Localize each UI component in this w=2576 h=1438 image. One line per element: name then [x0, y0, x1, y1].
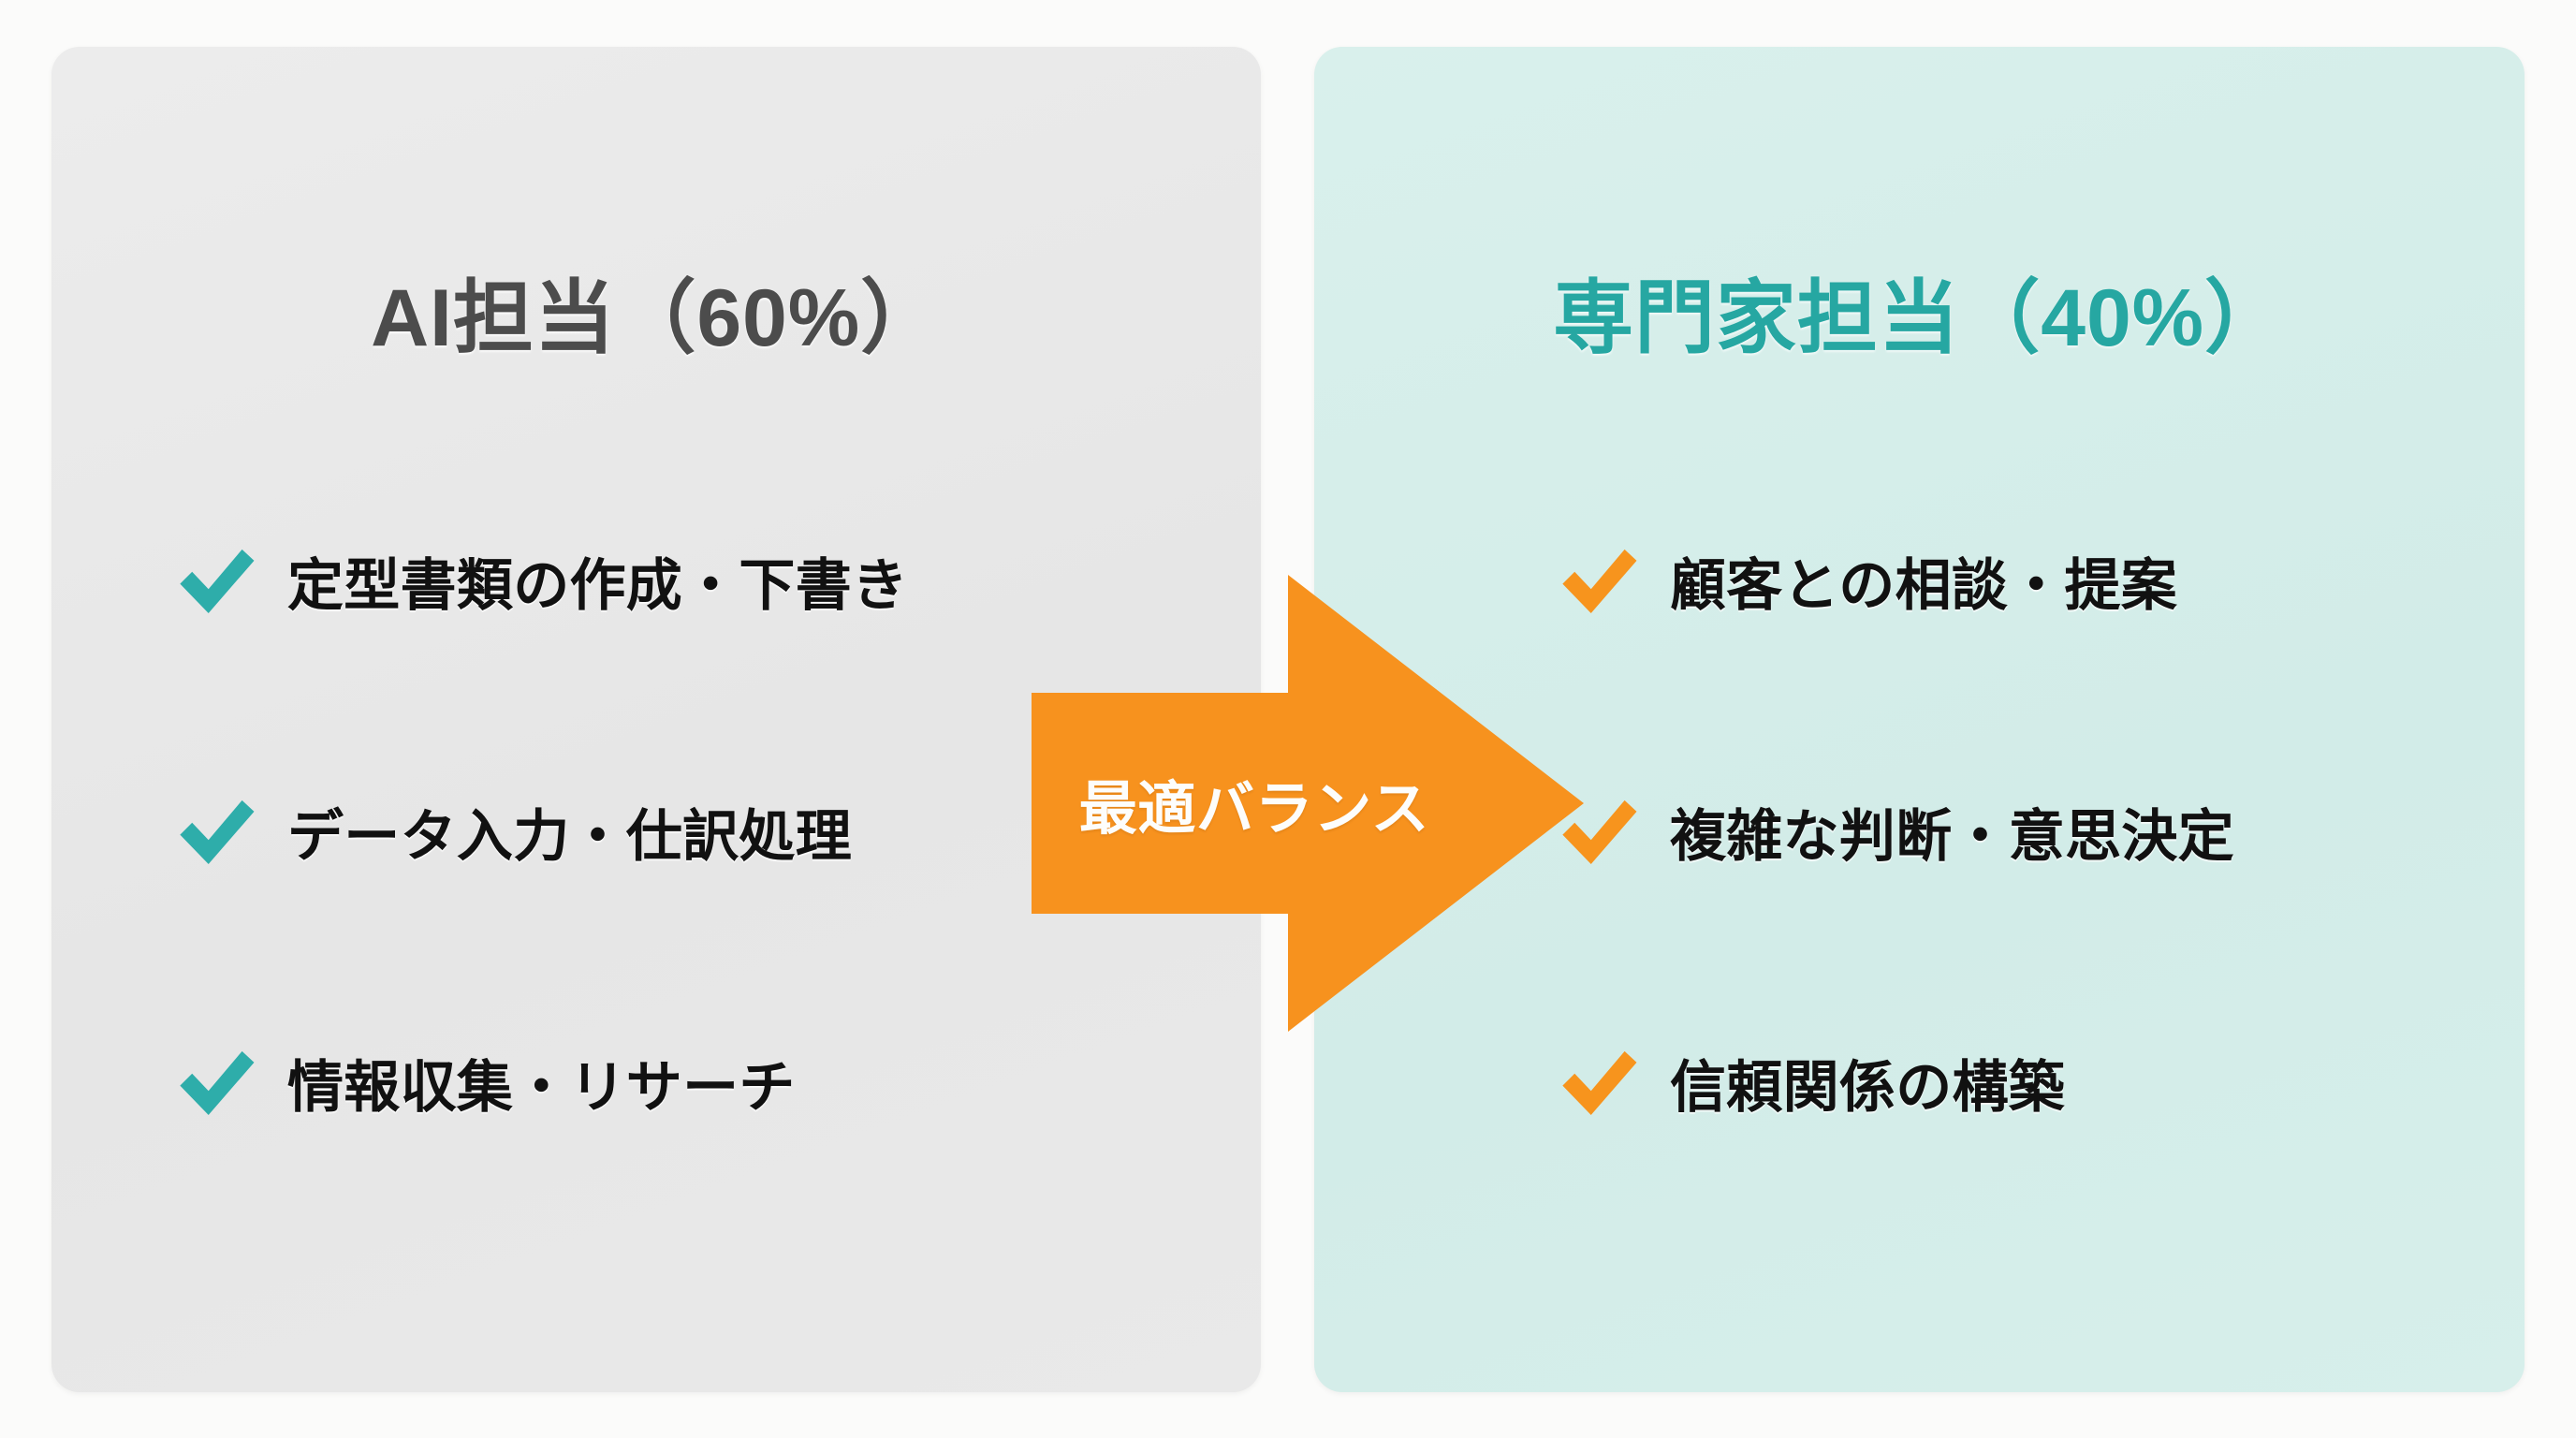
- balance-arrow: 最適バランス: [1026, 569, 1588, 1037]
- expert-card-title: 専門家担当（40%）: [1314, 252, 2525, 369]
- check-icon: [173, 1039, 259, 1125]
- list-item-label: 顧客との相談・提案: [1670, 540, 2177, 622]
- check-icon: [1556, 1039, 1642, 1125]
- list-item-label: 定型書類の作成・下書き: [287, 540, 908, 622]
- check-icon: [173, 537, 259, 624]
- ai-card-title: AI担当（60%）: [51, 252, 1261, 369]
- infographic-canvas: AI担当（60%） 定型書類の作成・下書き データ入力・仕訳処理: [0, 0, 2576, 1438]
- arrow-label: 最適バランス: [1048, 569, 1460, 1037]
- list-item-label: 情報収集・リサーチ: [287, 1042, 796, 1123]
- list-item-label: データ入力・仕訳処理: [287, 791, 852, 873]
- list-item-label: 信頼関係の構築: [1670, 1042, 2065, 1123]
- list-item-label: 複雑な判断・意思決定: [1670, 791, 2234, 873]
- check-icon: [173, 788, 259, 874]
